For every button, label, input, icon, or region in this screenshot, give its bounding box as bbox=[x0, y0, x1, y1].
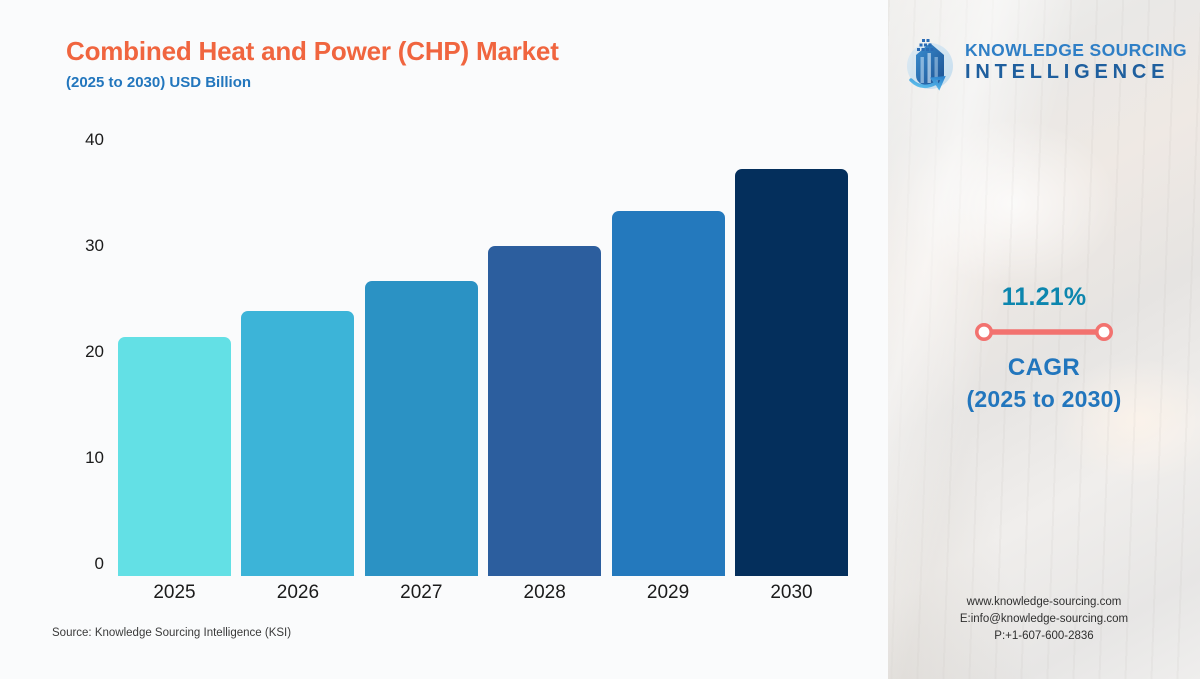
brand-panel: KNOWLEDGE SOURCING INTELLIGENCE 11.21% C… bbox=[888, 0, 1200, 679]
bar-series: 2025 2026 2027 2028 2029 bbox=[118, 140, 848, 576]
bar-2025[interactable] bbox=[118, 337, 231, 576]
x-axis-tick-label: 2025 bbox=[153, 582, 195, 604]
bar-2026[interactable] bbox=[241, 311, 354, 576]
logo-wordmark: KNOWLEDGE SOURCING INTELLIGENCE bbox=[965, 42, 1187, 83]
y-axis-tick-label: 40 bbox=[44, 130, 104, 150]
bar-group-2027[interactable]: 2027 bbox=[365, 140, 478, 576]
y-axis-tick-label: 30 bbox=[44, 236, 104, 256]
y-axis-tick-label: 0 bbox=[44, 554, 104, 574]
bar-2027[interactable] bbox=[365, 281, 478, 576]
x-axis-tick-label: 2026 bbox=[277, 582, 319, 604]
company-logo[interactable]: KNOWLEDGE SOURCING INTELLIGENCE bbox=[900, 28, 1192, 96]
bar-chart-plot-area: 40 30 20 10 0 2025 2026 2027 bbox=[118, 140, 848, 576]
x-axis-tick-label: 2030 bbox=[770, 582, 812, 604]
bar-group-2029[interactable]: 2029 bbox=[612, 140, 725, 576]
cagr-callout: 11.21% CAGR (2025 to 2030) bbox=[888, 283, 1200, 413]
x-axis-tick-label: 2029 bbox=[647, 582, 689, 604]
cagr-connector-line-icon bbox=[970, 322, 1118, 342]
bar-group-2026[interactable]: 2026 bbox=[241, 140, 354, 576]
page-subtitle: (2025 to 2030) USD Billion bbox=[66, 74, 251, 91]
source-note: Source: Knowledge Sourcing Intelligence … bbox=[52, 627, 291, 639]
cagr-label: CAGR bbox=[888, 354, 1200, 382]
infographic-page: Combined Heat and Power (CHP) Market (20… bbox=[0, 0, 1200, 679]
x-axis-tick-label: 2028 bbox=[524, 582, 566, 604]
chart-panel: Combined Heat and Power (CHP) Market (20… bbox=[0, 0, 888, 679]
logo-line-knowledge-sourcing: KNOWLEDGE SOURCING bbox=[965, 42, 1187, 60]
contact-phone[interactable]: P:+1-607-600-2836 bbox=[888, 628, 1200, 645]
cagr-value: 11.21% bbox=[888, 283, 1200, 312]
bar-group-2028[interactable]: 2028 bbox=[488, 140, 601, 576]
cagr-period: (2025 to 2030) bbox=[888, 386, 1200, 413]
bar-2029[interactable] bbox=[612, 211, 725, 576]
logo-line-intelligence: INTELLIGENCE bbox=[965, 62, 1187, 82]
bar-2030[interactable] bbox=[735, 169, 848, 576]
contact-email[interactable]: E:info@knowledge-sourcing.com bbox=[888, 611, 1200, 628]
bar-2028[interactable] bbox=[488, 246, 601, 576]
bar-group-2030[interactable]: 2030 bbox=[735, 140, 848, 576]
x-axis-tick-label: 2027 bbox=[400, 582, 442, 604]
contact-website[interactable]: www.knowledge-sourcing.com bbox=[888, 594, 1200, 611]
bar-group-2025[interactable]: 2025 bbox=[118, 140, 231, 576]
y-axis-tick-label: 10 bbox=[44, 448, 104, 468]
page-title: Combined Heat and Power (CHP) Market bbox=[66, 36, 559, 67]
contact-details: www.knowledge-sourcing.com E:info@knowle… bbox=[888, 594, 1200, 645]
y-axis-tick-label: 20 bbox=[44, 342, 104, 362]
knowledge-sourcing-globe-buildings-logo-icon bbox=[900, 33, 958, 91]
